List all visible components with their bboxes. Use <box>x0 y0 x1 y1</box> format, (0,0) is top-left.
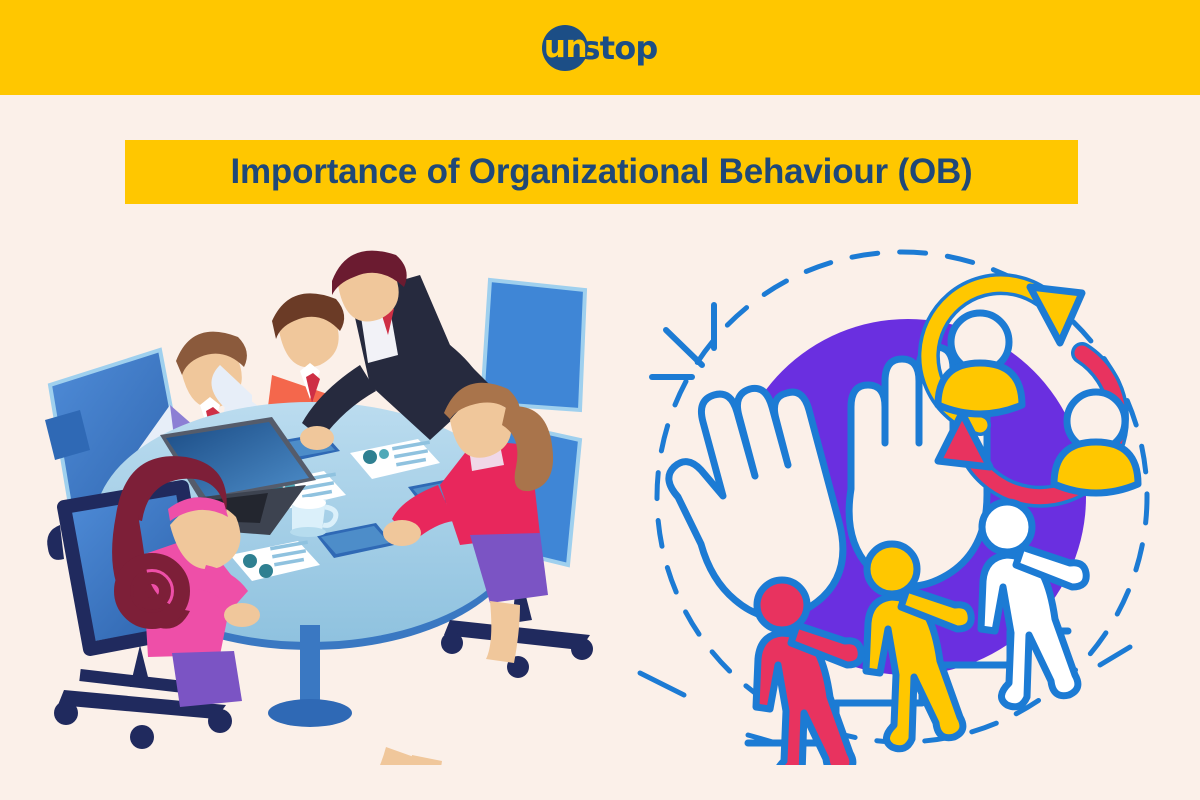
title-banner: Importance of Organizational Behaviour (… <box>125 140 1078 204</box>
logo-stop-text: stop <box>581 32 657 64</box>
teamwork-collaboration-illustration <box>630 235 1175 770</box>
business-meeting-illustration <box>20 235 620 770</box>
spark-lines-icon <box>652 305 714 377</box>
logo-un-text: un <box>542 25 588 71</box>
page-root: un stop Importance of Organizational Beh… <box>0 0 1200 800</box>
site-header: un stop <box>0 0 1200 95</box>
unstop-logo-mark: un <box>542 25 588 71</box>
unstop-logo[interactable]: un stop <box>542 24 657 72</box>
woman-legs-heels <box>318 747 442 765</box>
illustration-area <box>0 235 1200 800</box>
page-title: Importance of Organizational Behaviour (… <box>230 152 972 192</box>
